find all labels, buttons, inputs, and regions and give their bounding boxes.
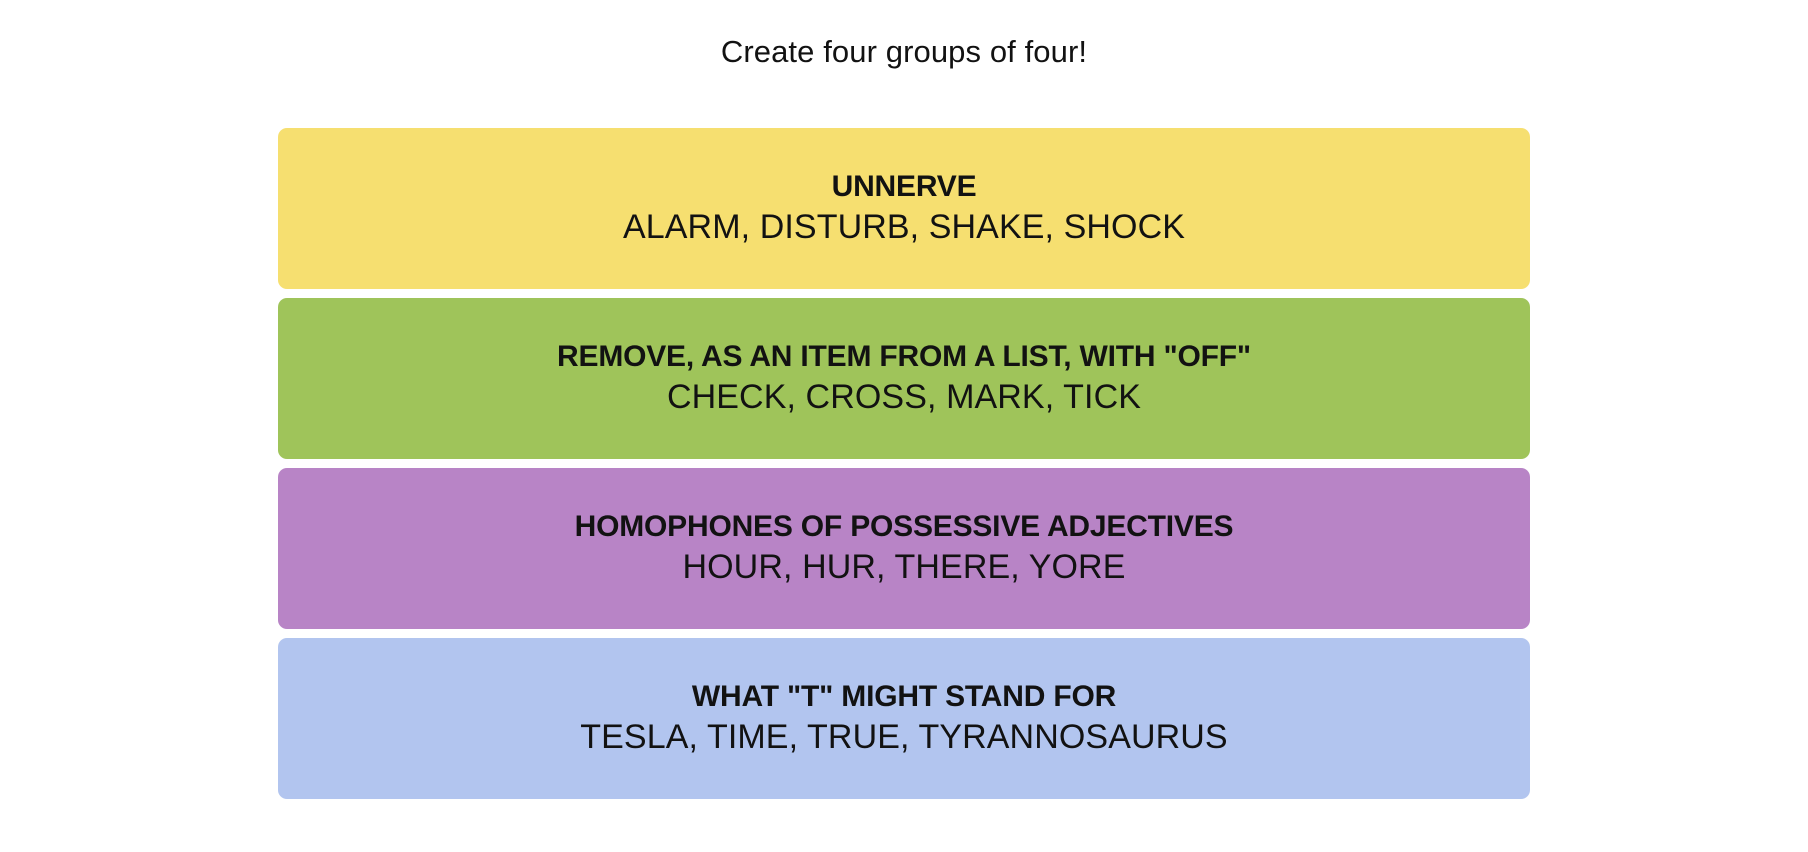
group-words: HOUR, HUR, THERE, YORE xyxy=(682,547,1125,588)
group-title: UNNERVE xyxy=(832,169,977,204)
page-title: Create four groups of four! xyxy=(0,0,1808,67)
group-card-blue[interactable]: WHAT "T" MIGHT STAND FOR TESLA, TIME, TR… xyxy=(278,638,1530,799)
group-words: ALARM, DISTURB, SHAKE, SHOCK xyxy=(623,207,1185,248)
solved-groups-board: UNNERVE ALARM, DISTURB, SHAKE, SHOCK REM… xyxy=(278,128,1530,799)
group-title: WHAT "T" MIGHT STAND FOR xyxy=(692,679,1116,714)
group-words: TESLA, TIME, TRUE, TYRANNOSAURUS xyxy=(580,717,1227,758)
group-card-yellow[interactable]: UNNERVE ALARM, DISTURB, SHAKE, SHOCK xyxy=(278,128,1530,289)
group-card-purple[interactable]: HOMOPHONES OF POSSESSIVE ADJECTIVES HOUR… xyxy=(278,468,1530,629)
group-title: REMOVE, AS AN ITEM FROM A LIST, WITH "OF… xyxy=(557,339,1251,374)
group-card-green[interactable]: REMOVE, AS AN ITEM FROM A LIST, WITH "OF… xyxy=(278,298,1530,459)
group-words: CHECK, CROSS, MARK, TICK xyxy=(667,377,1141,418)
connections-page: Create four groups of four! UNNERVE ALAR… xyxy=(0,0,1808,852)
group-title: HOMOPHONES OF POSSESSIVE ADJECTIVES xyxy=(575,509,1234,544)
